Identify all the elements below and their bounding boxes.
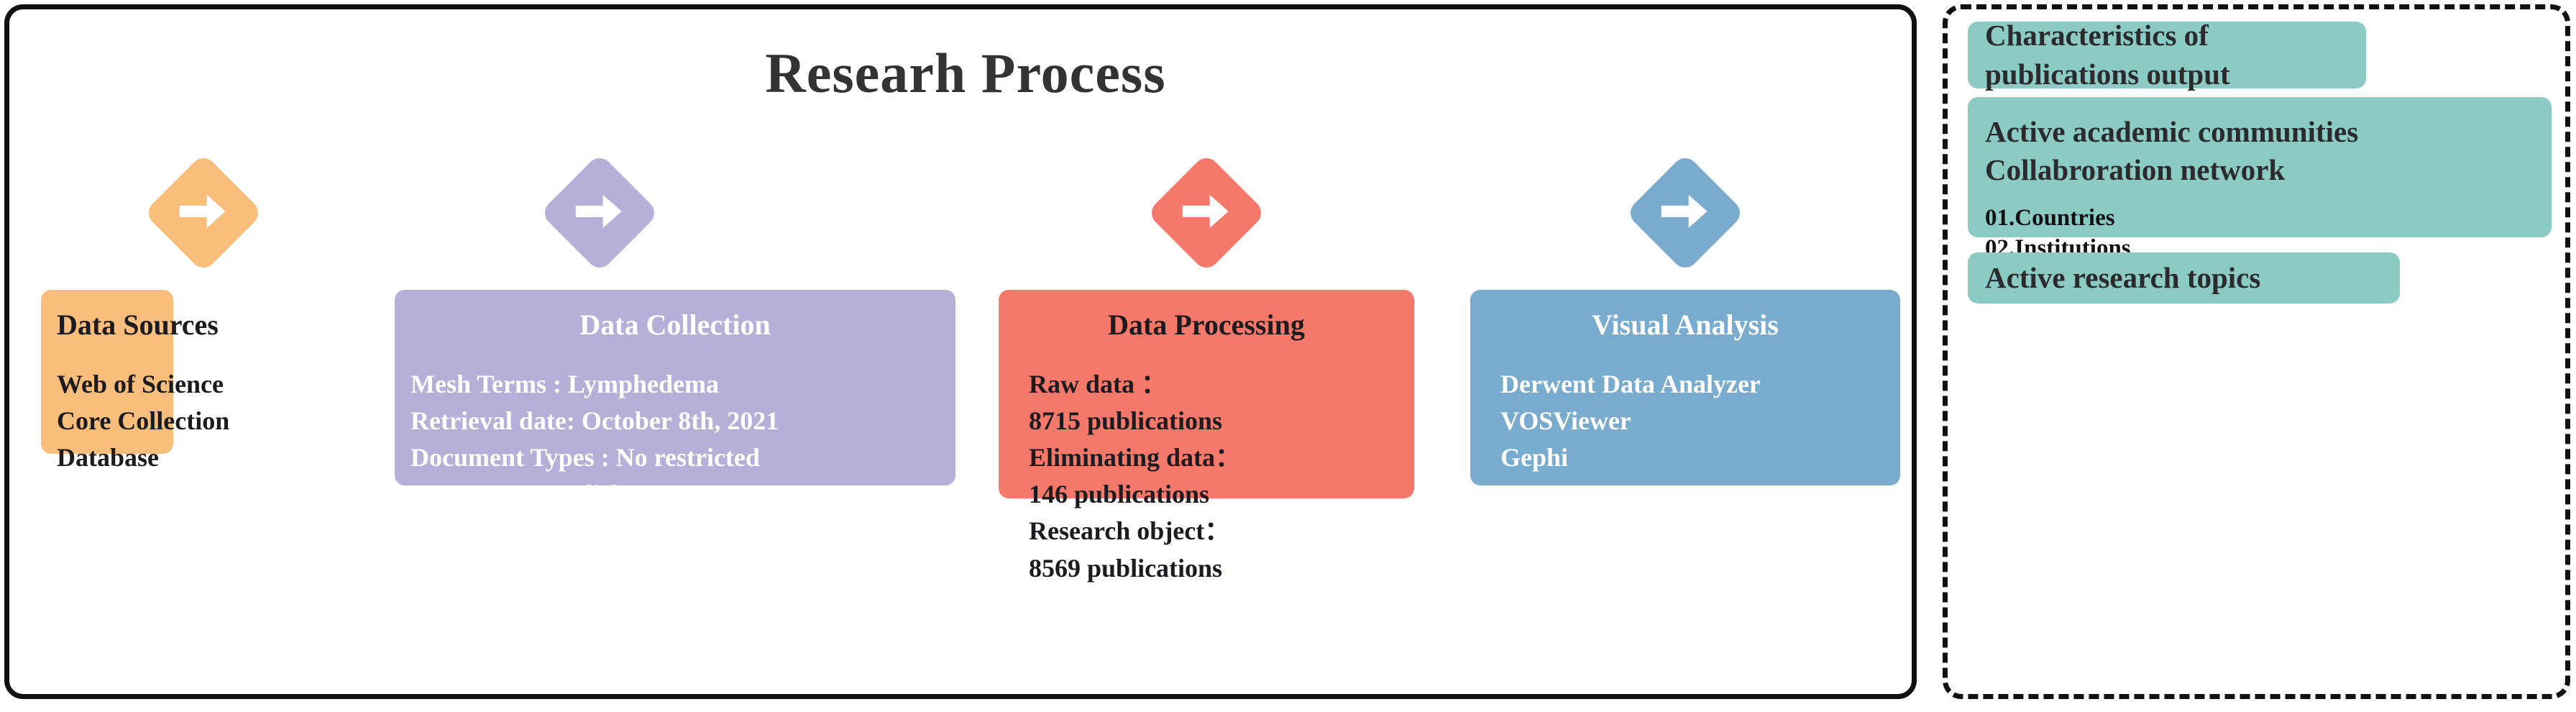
outcome-heading: Characteristics of <box>1985 17 2349 55</box>
card-line: VOSViewer <box>1500 403 1884 439</box>
right-arrow-icon <box>576 193 623 233</box>
card-line: Database <box>57 439 157 476</box>
card-line: 8715 publications <box>1029 403 1398 439</box>
card-visual-analysis: Visual Analysis Derwent Data Analyzer VO… <box>1470 290 1900 485</box>
card-line: Document Types : No restricted <box>411 439 940 476</box>
card-line: Gephi <box>1500 439 1884 476</box>
research-process-panel: Researh Process Data Sources Web of Scie… <box>4 4 1917 699</box>
outcome-heading: Active academic communities <box>1985 113 2534 151</box>
card-body: Raw data ： 8715 publications Eliminating… <box>1014 366 1398 587</box>
diamond-shape <box>1626 153 1746 273</box>
outcome-active-academic-communities: Active academic communities Collabrorati… <box>1968 97 2552 237</box>
flow-step-visual-analysis: Visual Analysis Derwent Data Analyzer VO… <box>1470 170 1900 695</box>
outcomes-panel: Characteristics of publications output A… <box>1943 4 2570 699</box>
outcome-heading: publications output <box>1985 55 2349 93</box>
diagram-canvas: Researh Process Data Sources Web of Scie… <box>0 0 2576 712</box>
card-line: Mesh Terms : Lymphedema <box>411 366 940 403</box>
card-line: Web of Science <box>57 366 157 403</box>
flow-step-data-collection: Data Collection Mesh Terms : Lymphedema … <box>395 170 955 695</box>
card-line: Research object： <box>1029 513 1398 549</box>
card-line: Language : English <box>411 476 940 513</box>
card-line: Retrieval date: October 8th, 2021 <box>411 403 940 439</box>
arrow-marker-data-processing <box>999 170 1414 255</box>
card-line: Raw data ： <box>1029 366 1398 403</box>
card-line: Core Collection <box>57 403 157 439</box>
card-data-processing: Data Processing Raw data ： 8715 publicat… <box>999 290 1414 498</box>
card-body: Derwent Data Analyzer VOSViewer Gephi <box>1486 366 1884 476</box>
outcome-heading: Active research topics <box>1985 259 2383 297</box>
flow-step-data-sources: Data Sources Web of Science Core Collect… <box>41 170 366 695</box>
card-data-sources: Data Sources Web of Science Core Collect… <box>41 290 173 454</box>
flow-step-data-processing: Data Processing Raw data ： 8715 publicat… <box>999 170 1414 695</box>
card-body: Mesh Terms : Lymphedema Retrieval date: … <box>411 366 940 513</box>
diamond-shape <box>540 153 660 273</box>
right-arrow-icon <box>1183 193 1230 233</box>
outcome-active-research-topics: Active research topics <box>1968 252 2400 303</box>
card-body: Web of Science Core Collection Database <box>57 366 157 476</box>
arrow-marker-visual-analysis <box>1470 170 1900 255</box>
card-title: Data Sources <box>57 309 157 342</box>
card-data-collection: Data Collection Mesh Terms : Lymphedema … <box>395 290 955 485</box>
card-title: Data Processing <box>1014 309 1398 342</box>
list-item: 01.Countries <box>1985 203 2534 233</box>
outcome-heading: Collabroration network <box>1985 151 2534 189</box>
card-title: Visual Analysis <box>1486 309 1884 342</box>
diamond-shape <box>144 153 264 273</box>
card-line: 146 publications <box>1029 476 1398 513</box>
arrow-marker-data-sources <box>41 170 366 255</box>
card-line: Eliminating data： <box>1029 439 1398 476</box>
card-line: Derwent Data Analyzer <box>1500 366 1884 403</box>
outcome-characteristics-of-publications-output: Characteristics of publications output <box>1968 22 2366 88</box>
right-arrow-icon <box>1661 193 1709 233</box>
diamond-shape <box>1147 153 1267 273</box>
card-title: Data Collection <box>411 309 940 342</box>
right-arrow-icon <box>180 193 227 233</box>
card-line: 8569 publications <box>1029 550 1398 587</box>
page-title: Researh Process <box>9 44 1922 103</box>
